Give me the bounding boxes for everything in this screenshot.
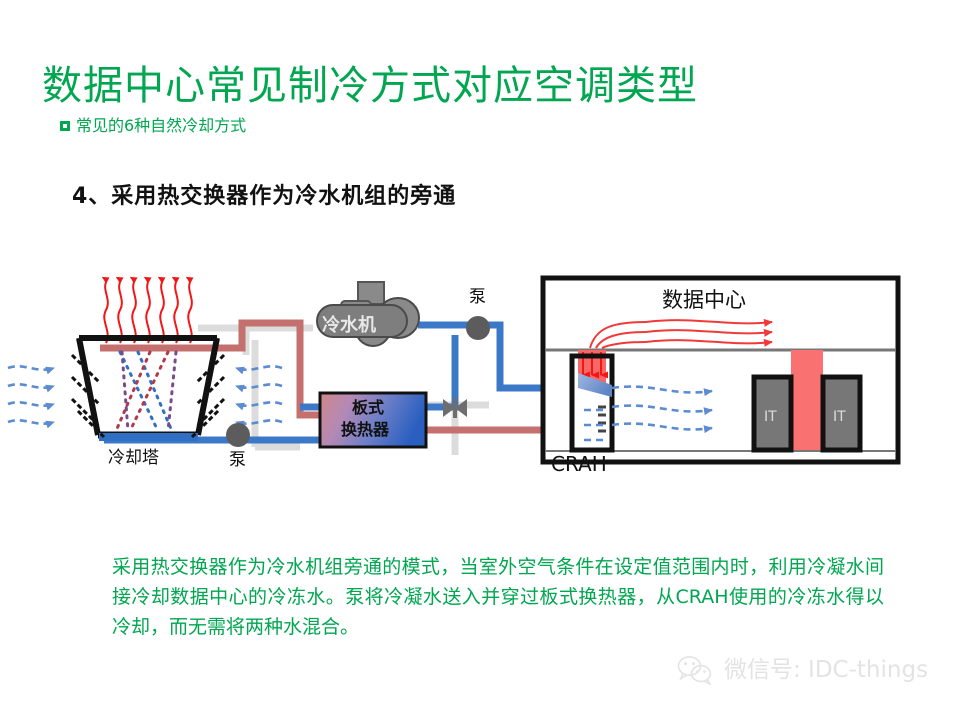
pump-top: 泵 [466, 287, 490, 340]
square-bullet-icon [60, 121, 70, 131]
slide-canvas: 数据中心常见制冷方式对应空调类型 常见的6种自然冷却方式 4、采用热交换器作为冷… [0, 0, 960, 720]
it-rack-right: IT [823, 377, 860, 450]
label-data-center: 数据中心 [662, 288, 746, 312]
it-rack-left: IT [754, 377, 791, 450]
data-center-room: 数据中心 [543, 278, 898, 476]
footer-brand: 微信号: IDC-things [676, 655, 928, 685]
label-crah: CRAH [551, 452, 607, 476]
slide-caption: 采用热交换器作为冷水机组旁通的模式，当室外空气条件在设定值范围内时，利用冷凝水间… [112, 552, 884, 642]
label-cooling-tower: 冷却塔 [108, 448, 159, 468]
label-pump-bottom: 泵 [229, 450, 246, 470]
page-title: 数据中心常见制冷方式对应空调类型 [42, 61, 698, 111]
footer-wechat-id: 微信号: IDC-things [724, 656, 928, 684]
pump-bottom: 泵 [226, 423, 250, 470]
wechat-icon [676, 655, 714, 685]
diagram-svg: 冷却塔 泵 泵 冷水机 板式 换热器 [0, 255, 960, 495]
label-hx-line1: 板式 [352, 398, 384, 417]
subhead-row: 常见的6种自然冷却方式 [60, 116, 246, 136]
cooling-system-diagram: 冷却塔 泵 泵 冷水机 板式 换热器 [0, 255, 960, 495]
plate-heat-exchanger: 板式 换热器 [320, 393, 426, 447]
label-hx-line2: 换热器 [341, 420, 390, 439]
label-rack-left: IT [764, 409, 777, 425]
hot-aisle-column [791, 350, 823, 450]
chiller-unit: 冷水机 [317, 282, 419, 346]
label-rack-right: IT [833, 409, 846, 425]
label-pump-top: 泵 [469, 287, 486, 307]
subhead-label: 常见的6种自然冷却方式 [76, 116, 246, 136]
section-heading: 4、采用热交换器作为冷水机组的旁通 [72, 182, 456, 212]
bypass-valve-icon [443, 398, 467, 418]
label-chiller: 冷水机 [322, 314, 376, 336]
